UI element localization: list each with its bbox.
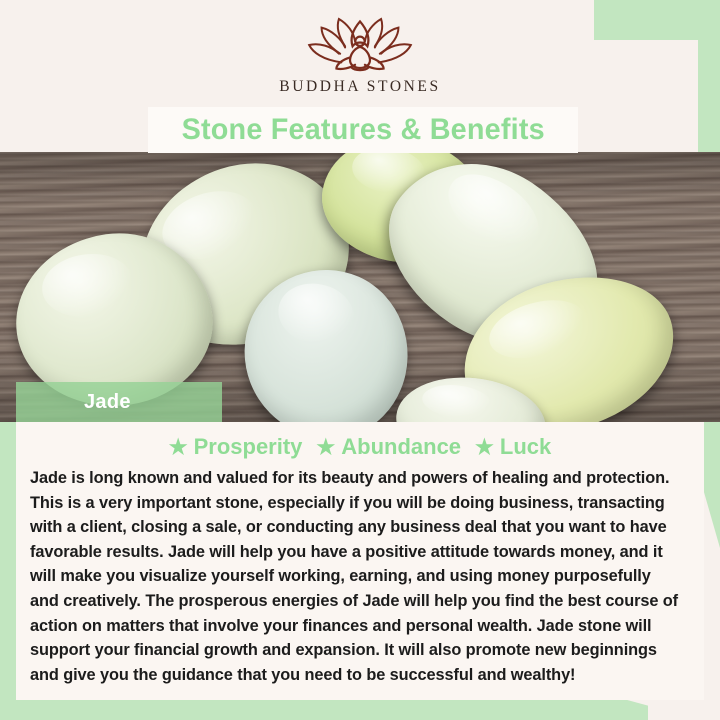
keyword-prosperity: ★ Prosperity <box>169 434 303 460</box>
keyword-luck: ★ Luck <box>475 434 551 460</box>
stone-name-bar: Jade <box>16 382 222 422</box>
keyword-list: ★ Prosperity ★ Abundance ★ Luck <box>30 432 690 462</box>
lotus-meditation-icon <box>298 14 422 76</box>
stone-info-card: BUDDHA STONES Stone Features & Benefits … <box>0 0 720 720</box>
stone-name-label: Jade <box>84 391 131 414</box>
title-banner: Stone Features & Benefits <box>148 107 578 153</box>
keyword-label: Luck <box>500 434 551 460</box>
star-icon: ★ <box>316 437 335 458</box>
star-icon: ★ <box>475 437 494 458</box>
brand-name: BUDDHA STONES <box>279 78 440 96</box>
brand-header: BUDDHA STONES <box>0 0 720 108</box>
keyword-label: Abundance <box>341 434 461 460</box>
keyword-abundance: ★ Abundance <box>316 434 461 460</box>
description-card: ★ Prosperity ★ Abundance ★ Luck Jade is … <box>16 422 704 700</box>
description-text: Jade is long known and valued for its be… <box>30 466 680 687</box>
page-title: Stone Features & Benefits <box>181 113 544 147</box>
frame-accent-left <box>0 418 16 720</box>
keyword-label: Prosperity <box>194 434 303 460</box>
star-icon: ★ <box>169 437 188 458</box>
